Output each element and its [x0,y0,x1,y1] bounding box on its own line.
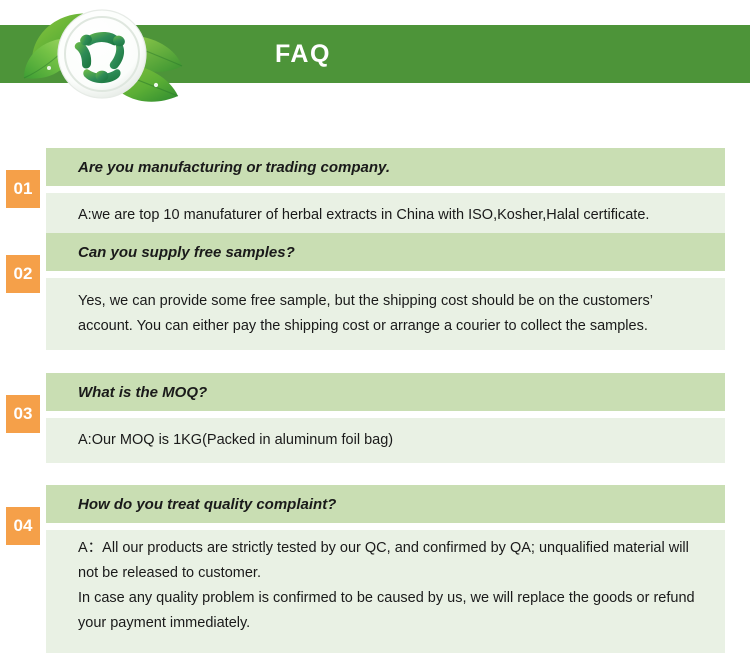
faq-item: 01 Are you manufacturing or trading comp… [0,115,750,233]
faq-answer-text: Yes, we can provide some free sample, bu… [78,289,711,339]
faq-item: 04 How do you treat quality complaint? A… [0,485,750,640]
faq-answer: A:we are top 10 manufaturer of herbal ex… [46,193,725,238]
faq-number-badge: 01 [6,170,40,208]
faq-question-text: What is the MOQ? [78,384,207,401]
faq-item: 03 What is the MOQ? A:Our MOQ is 1KG(Pac… [0,373,750,485]
faq-question-text: Are you manufacturing or trading company… [78,159,390,176]
leaf-circle-logo [18,0,218,112]
page-header: FAQ [0,0,750,115]
faq-question[interactable]: Are you manufacturing or trading company… [46,148,725,186]
faq-answer: Yes, we can provide some free sample, bu… [46,278,725,350]
faq-answer: A：All our products are strictly tested b… [46,530,725,653]
faq-question[interactable]: How do you treat quality complaint? [46,485,725,523]
faq-item: 02 Can you supply free samples? Yes, we … [0,233,750,373]
faq-question[interactable]: Can you supply free samples? [46,233,725,271]
faq-number-badge: 04 [6,507,40,545]
faq-number-badge: 03 [6,395,40,433]
faq-answer-text: A：All our products are strictly tested b… [78,536,711,636]
faq-answer-text: A:we are top 10 manufaturer of herbal ex… [78,203,711,228]
faq-answer: A:Our MOQ is 1KG(Packed in aluminum foil… [46,418,725,463]
faq-answer-text: A:Our MOQ is 1KG(Packed in aluminum foil… [78,428,711,453]
faq-list: 01 Are you manufacturing or trading comp… [0,115,750,640]
faq-question[interactable]: What is the MOQ? [46,373,725,411]
faq-question-text: Can you supply free samples? [78,244,295,261]
faq-question-text: How do you treat quality complaint? [78,496,336,513]
page-title: FAQ [275,25,331,83]
faq-number-badge: 02 [6,255,40,293]
